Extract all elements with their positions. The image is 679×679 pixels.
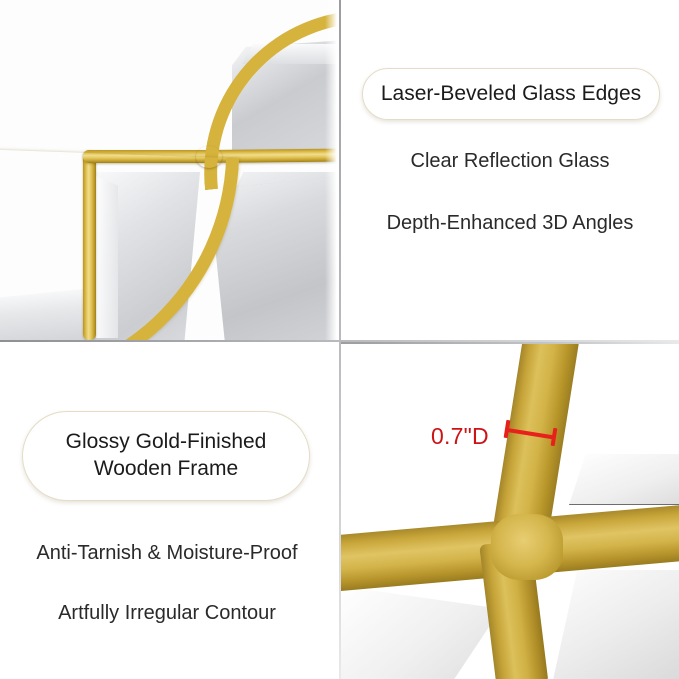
panel-frame-features [0,342,339,679]
badge-text-block: Glossy Gold-Finished Wooden Frame [66,429,267,483]
mirror-corner-image [0,0,339,340]
white-panel-right [569,454,679,505]
white-panel-bottom-left [341,586,501,679]
badge-line-2: Wooden Frame [66,456,267,483]
closeup-bar-joint [491,514,563,580]
feature-depth-enhanced-3d-angles: Depth-Enhanced 3D Angles [341,212,679,235]
feature-clear-reflection-glass: Clear Reflection Glass [341,150,679,173]
badge-line-1: Glossy Gold-Finished [66,429,267,456]
white-panel-bottom-right [553,570,679,679]
badge-line-text: Laser-Beveled Glass Edges [381,81,641,108]
panel-mirror-corner-photo [0,0,339,340]
panel-frame-depth-closeup: 0.7"D [341,342,679,679]
frame-closeup-image [341,342,679,679]
badge-glossy-gold-finished-wooden-frame: Glossy Gold-Finished Wooden Frame [22,411,310,501]
gold-frame-joint [196,146,222,168]
feature-anti-tarnish-moisture-proof: Anti-Tarnish & Moisture-Proof [0,542,334,565]
photo-edge-fade [325,0,339,340]
badge-laser-beveled-glass-edges: Laser-Beveled Glass Edges [362,68,660,120]
infographic-page: Laser-Beveled Glass Edges Clear Reflecti… [0,0,679,679]
dimension-label: 0.7"D [431,423,489,450]
photo-top-border [341,342,679,344]
gold-frame-arc-lower [0,146,239,340]
feature-artfully-irregular-contour: Artfully Irregular Contour [0,602,334,625]
divider-horizontal [0,340,679,342]
